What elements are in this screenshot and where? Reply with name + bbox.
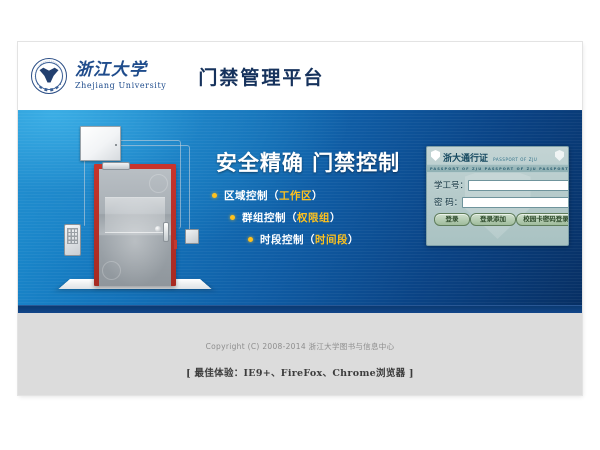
banner-headline: 安全精确 门禁控制	[198, 147, 418, 177]
bullet-tail: ）	[348, 232, 359, 247]
site-header: 浙江大学 Zhejiang University 门禁管理平台	[18, 42, 582, 110]
login-panel: 浙大通行证 PASSPORT OF ZJU PASSPORT OF ZJU PA…	[426, 146, 569, 246]
login-form: 学工号： 密 码： 登录 登录添加 校园卡密码登录	[427, 173, 568, 226]
login-button-row: 登录 登录添加 校园卡密码登录	[434, 213, 561, 226]
passport-watermark-strip: PASSPORT OF ZJU PASSPORT OF ZJU PASSPORT…	[427, 164, 568, 173]
door-handle-icon	[163, 222, 169, 242]
login-title-cn: 浙大通行证	[443, 154, 488, 164]
username-row: 学工号：	[434, 179, 561, 191]
hero-banner: 安全精确 门禁控制 区域控制（工作区） 群组控制（权限组） 时段控制（时间段）	[18, 110, 582, 313]
password-input[interactable]	[462, 197, 569, 208]
university-name-en: Zhejiang University	[75, 82, 166, 90]
brand-logo[interactable]: 浙江大学 Zhejiang University	[31, 58, 166, 94]
passport-strip-text: PASSPORT OF ZJU PASSPORT OF ZJU PASSPORT…	[427, 167, 568, 171]
login-panel-header: 浙大通行证 PASSPORT OF ZJU	[427, 147, 568, 164]
login-add-button[interactable]: 登录添加	[470, 213, 516, 226]
bullet-label: 群组控制（	[242, 210, 297, 225]
bullet-tail: ）	[330, 210, 341, 225]
browser-support-note: [ 最佳体验：IE9+、FireFox、Chrome浏览器 ]	[18, 365, 582, 379]
bullet-dot-icon	[230, 215, 235, 220]
list-item: 区域控制（工作区）	[198, 188, 424, 203]
banner-bottom-strip	[18, 305, 582, 313]
controller-box-icon	[80, 126, 121, 161]
keypad-reader-icon	[64, 224, 81, 256]
password-row: 密 码：	[434, 196, 561, 208]
page-title: 门禁管理平台	[198, 63, 324, 90]
door-illustration	[44, 116, 219, 306]
bullet-accent: 权限组	[297, 210, 330, 225]
door-strike-plate	[174, 240, 177, 249]
site-footer: Copyright (C) 2008-2014 浙江大学图书与信息中心 [ 最佳…	[18, 313, 582, 395]
list-item: 群组控制（权限组）	[198, 210, 424, 225]
bullet-accent: 工作区	[279, 188, 312, 203]
door-knob-icon	[155, 226, 161, 232]
page-card: 浙江大学 Zhejiang University 门禁管理平台	[18, 42, 582, 395]
door-ornament	[102, 261, 121, 280]
university-name-cn: 浙江大学	[75, 62, 166, 79]
university-name: 浙江大学 Zhejiang University	[75, 62, 166, 90]
list-item: 时段控制（时间段）	[198, 232, 424, 247]
bullet-tail: ）	[312, 188, 323, 203]
bullet-dot-icon	[248, 237, 253, 242]
bullet-accent: 时间段	[315, 232, 348, 247]
username-input[interactable]	[468, 180, 569, 191]
copyright-text: Copyright (C) 2008-2014 浙江大学图书与信息中心	[18, 313, 582, 352]
shield-icon	[555, 150, 564, 161]
app-screen: 浙江大学 Zhejiang University 门禁管理平台	[0, 0, 600, 450]
door-closer-icon	[102, 162, 130, 170]
bullet-label: 区域控制（	[224, 188, 279, 203]
login-button[interactable]: 登录	[434, 213, 470, 226]
wire-keypad	[84, 158, 86, 226]
door-frame	[94, 164, 176, 286]
campus-card-login-button[interactable]: 校园卡密码登录	[516, 213, 569, 226]
zju-seal-icon	[31, 58, 67, 94]
feature-bullet-list: 区域控制（工作区） 群组控制（权限组） 时段控制（时间段）	[198, 188, 424, 254]
username-label: 学工号：	[434, 179, 468, 191]
door-ornament	[149, 174, 168, 193]
bullet-label: 时段控制（	[260, 232, 315, 247]
card-reader-icon	[185, 229, 199, 244]
shield-icon	[431, 150, 440, 161]
login-title-en: PASSPORT OF ZJU	[493, 157, 537, 162]
login-title-group: 浙大通行证 PASSPORT OF ZJU	[443, 146, 537, 165]
password-label: 密 码：	[434, 196, 462, 208]
bullet-dot-icon	[212, 193, 217, 198]
